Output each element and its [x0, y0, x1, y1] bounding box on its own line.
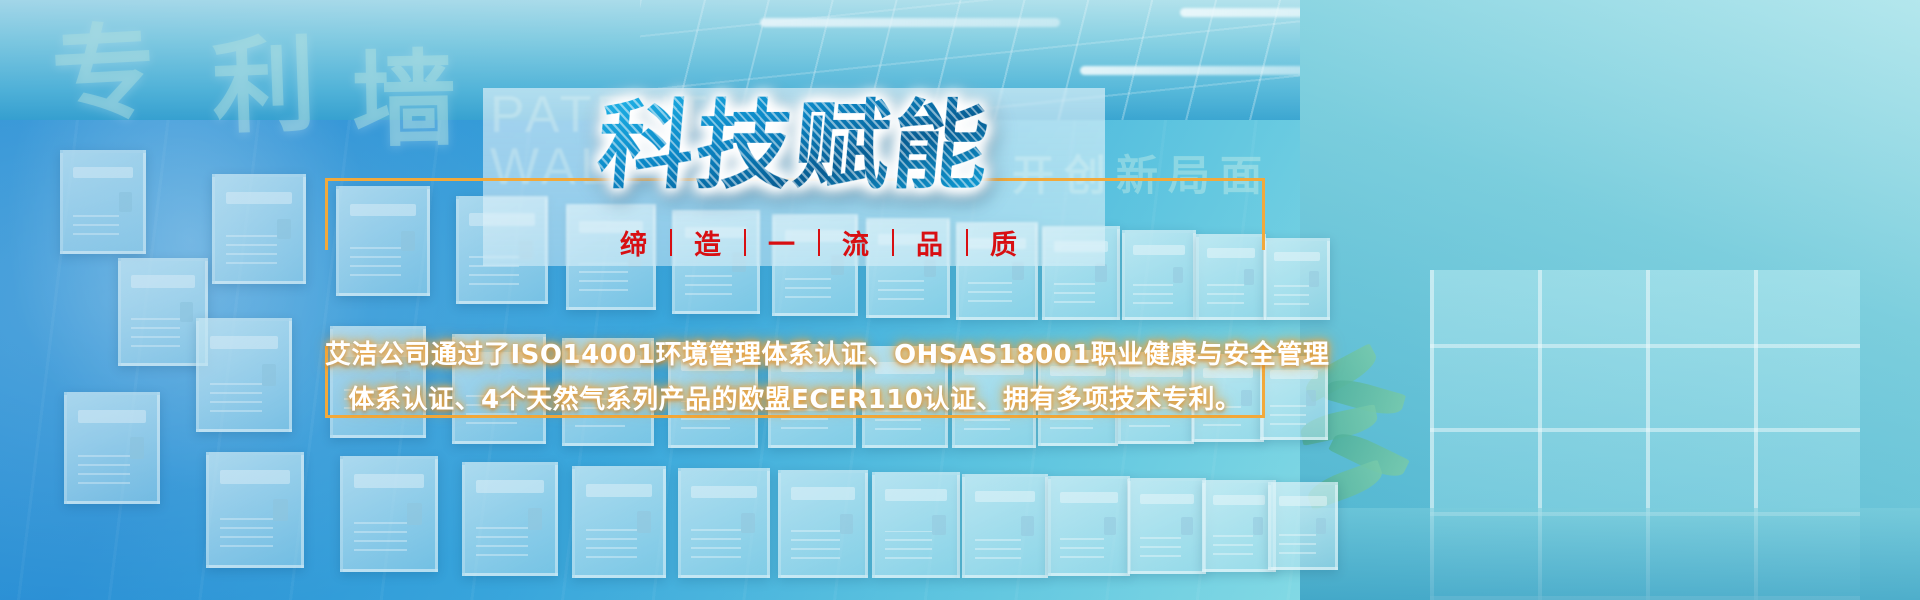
certificate-frame	[196, 318, 292, 432]
subtitle-word: 流	[820, 223, 892, 262]
certificate-frame	[1128, 478, 1206, 574]
certificate-frame	[1268, 482, 1338, 570]
certificate-frame	[1264, 238, 1330, 320]
subtitle-word: 缔	[598, 223, 670, 262]
wall-character-li: 利	[210, 32, 318, 140]
description-line: 体系认证、4个天然气系列产品的欧盟ECER110认证、拥有多项技术专利。	[325, 378, 1265, 423]
certificate-frame	[678, 468, 770, 578]
certificate-frame	[962, 474, 1048, 578]
certificate-frame	[118, 258, 208, 366]
patent-wall-banner: 专 利 墙 PATENT WALL 开创新局面 科技赋能 缔 造 一 流 品 质…	[0, 0, 1920, 600]
certificate-frame	[1202, 480, 1276, 572]
wall-character-qiang: 墙	[351, 47, 457, 153]
banner-description: 艾洁公司通过了ISO14001环境管理体系认证、OHSAS18001职业健康与安…	[325, 333, 1265, 422]
bracket-right-upper	[1262, 178, 1265, 250]
certificate-frame	[212, 174, 306, 284]
description-line: 艾洁公司通过了ISO14001环境管理体系认证、OHSAS18001职业健康与安…	[325, 333, 1265, 378]
certificate-frame	[462, 462, 558, 576]
subtitle-word: 质	[968, 223, 1040, 262]
subtitle-word: 一	[746, 223, 818, 262]
subtitle-word: 品	[894, 223, 966, 262]
banner-subtitle: 缔 造 一 流 品 质	[598, 223, 1040, 262]
certificate-frame	[572, 466, 666, 578]
banner-headline: 科技赋能	[594, 96, 995, 197]
certificate-frame	[1048, 476, 1130, 576]
certificate-frame	[60, 150, 146, 254]
certificate-frame	[340, 456, 438, 572]
certificate-frame	[64, 392, 160, 504]
certificate-frame	[872, 472, 960, 578]
certificate-frame	[778, 470, 868, 578]
certificate-frame	[206, 452, 304, 568]
bracket-left-upper	[325, 178, 328, 250]
subtitle-word: 造	[672, 223, 744, 262]
wall-character-zhuan: 专	[49, 19, 158, 128]
